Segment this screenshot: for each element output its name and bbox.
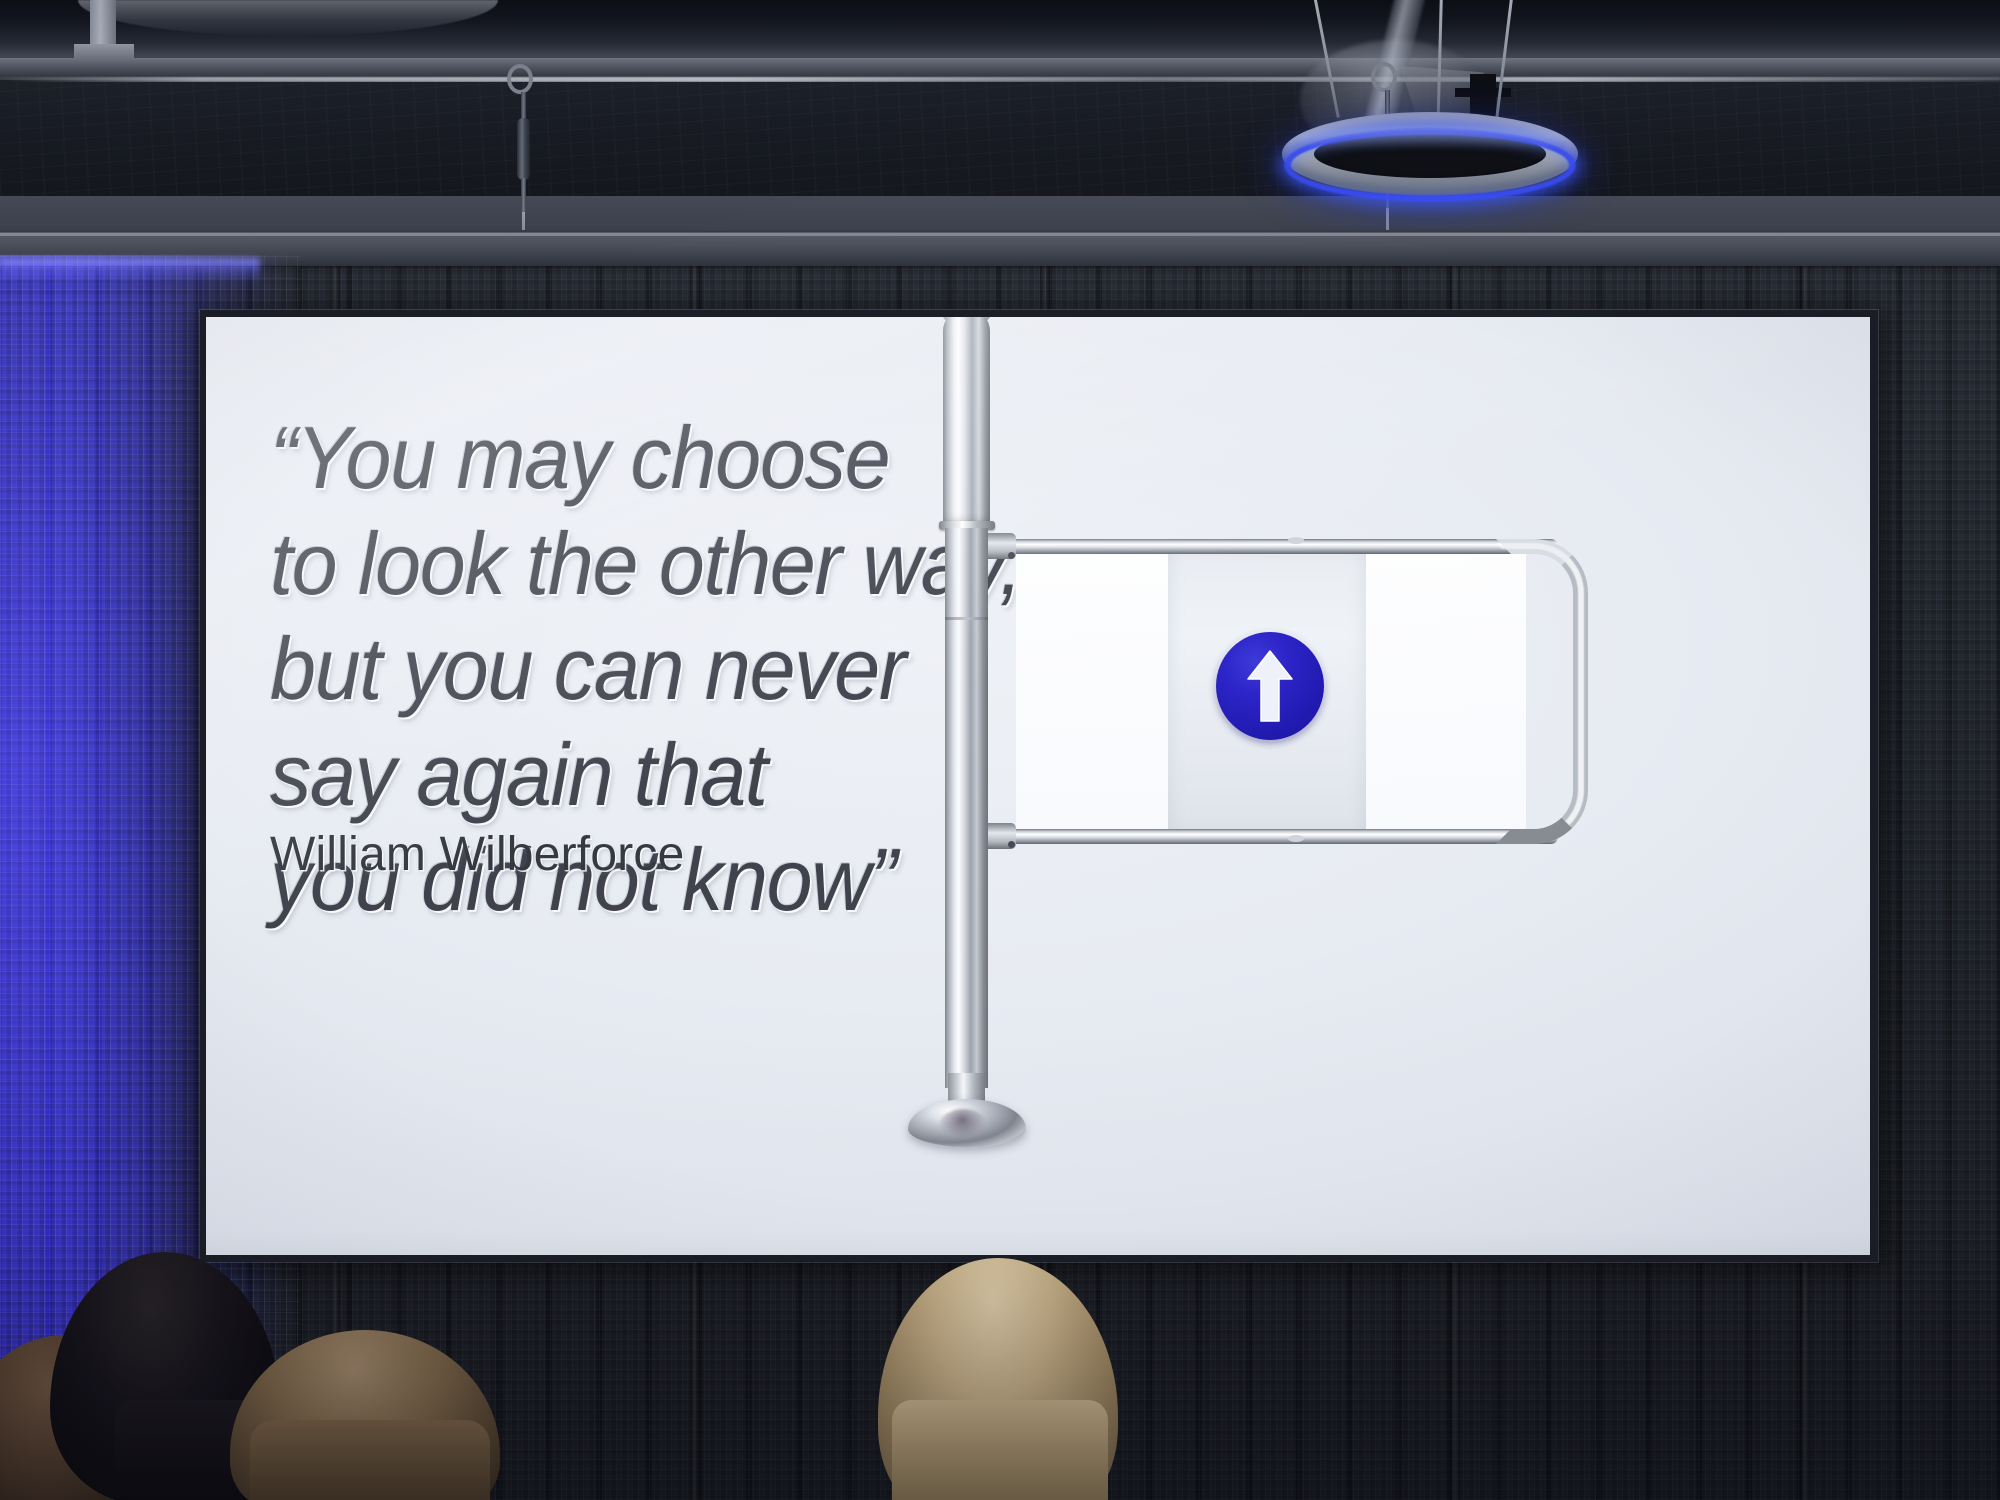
- gate-bolt-top: [1008, 552, 1015, 559]
- ceiling-insulation: [0, 82, 2000, 200]
- turnstile-gate-graphic: [896, 317, 1796, 1255]
- presentation-photo: “You may choose to look the other way, b…: [0, 0, 2000, 1500]
- hanger-rod-icon: [521, 92, 526, 120]
- gate-post-upper: [943, 317, 990, 524]
- gate-post-base-shadow: [940, 1109, 986, 1139]
- gate-rivet-top: [1288, 537, 1304, 544]
- audience-hair-brown: [250, 1420, 490, 1500]
- slide-attribution: William Wilberforce: [270, 827, 685, 882]
- blue-stage-light-core: [0, 255, 190, 1355]
- pipe-hanger-plate-icon: [74, 44, 134, 60]
- hanger-ring-icon: [507, 64, 533, 94]
- gate-panel-left: [1016, 554, 1168, 829]
- gate-bolt-bottom: [1008, 841, 1015, 848]
- gate-arm-top-bar: [988, 539, 1558, 554]
- ring-pendant-light: [1268, 0, 1688, 230]
- turnbuckle-icon: [517, 118, 530, 180]
- ceiling: [0, 0, 2000, 235]
- gate-rivet-bottom: [1288, 835, 1304, 842]
- lamp-led-glow-top: [1298, 126, 1562, 156]
- curtain-track-rail: [0, 232, 2000, 266]
- lamp-cable-2: [1437, 0, 1443, 122]
- up-arrow-icon: [1244, 649, 1296, 723]
- blue-light-top-glow: [0, 258, 260, 286]
- hanger-rod-lower-icon: [521, 178, 526, 214]
- projection-screen: “You may choose to look the other way, b…: [206, 317, 1870, 1255]
- gate-post-column: [945, 528, 988, 1088]
- gate-arm-bottom-bar: [988, 829, 1558, 844]
- gate-arm-curve-highlight: [1496, 543, 1584, 840]
- gate-post-seam: [945, 617, 988, 620]
- audience-hair-blonde: [892, 1400, 1108, 1500]
- lamp-cable-1: [1312, 0, 1339, 118]
- lamp-cable-3: [1495, 0, 1514, 123]
